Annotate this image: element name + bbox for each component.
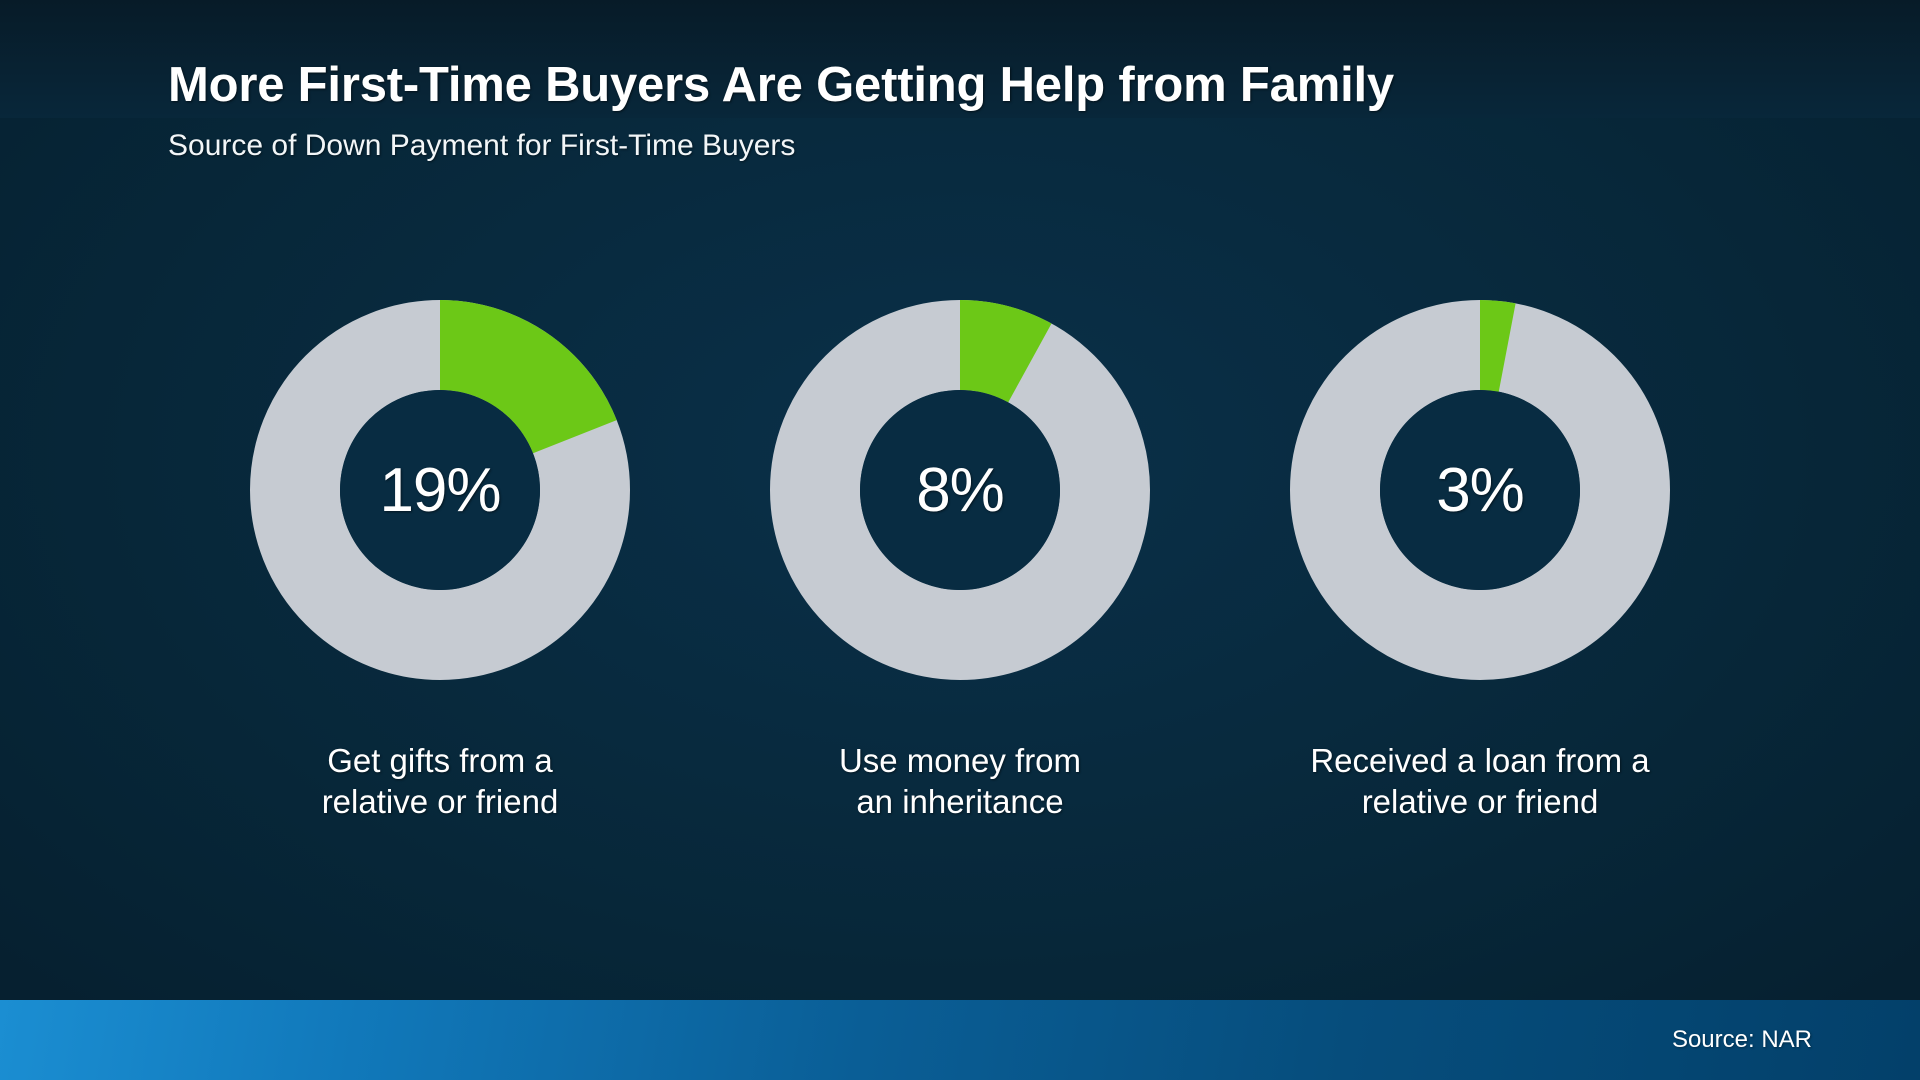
infographic-slide: More First-Time Buyers Are Getting Help … bbox=[0, 0, 1920, 1080]
donut-chart-group: 19% Get gifts from a relative or friend … bbox=[0, 300, 1920, 823]
donut-graphic: 19% bbox=[250, 300, 630, 680]
donut-category-line-1: Received a loan from a bbox=[1310, 740, 1649, 781]
donut-category-line-2: relative or friend bbox=[1310, 781, 1649, 822]
donut-chart-inheritance: 8% Use money from an inheritance bbox=[700, 300, 1220, 823]
donut-percentage-label-2: 3% bbox=[1290, 300, 1670, 680]
donut-percentage-label-1: 8% bbox=[770, 300, 1150, 680]
donut-category-label-0: Get gifts from a relative or friend bbox=[322, 740, 559, 823]
donut-category-line-1: Use money from bbox=[839, 740, 1081, 781]
donut-graphic: 3% bbox=[1290, 300, 1670, 680]
footer-bar: Source: NAR bbox=[0, 1000, 1920, 1080]
donut-graphic: 8% bbox=[770, 300, 1150, 680]
donut-chart-gifts: 19% Get gifts from a relative or friend bbox=[180, 300, 700, 823]
page-title: More First-Time Buyers Are Getting Help … bbox=[168, 58, 1394, 113]
donut-category-line-2: relative or friend bbox=[322, 781, 559, 822]
donut-category-label-2: Received a loan from a relative or frien… bbox=[1310, 740, 1649, 823]
source-attribution: Source: NAR bbox=[1672, 1026, 1920, 1054]
page-subtitle: Source of Down Payment for First-Time Bu… bbox=[168, 129, 1394, 164]
donut-category-line-1: Get gifts from a bbox=[322, 740, 559, 781]
donut-chart-loan: 3% Received a loan from a relative or fr… bbox=[1220, 300, 1740, 823]
donut-category-line-2: an inheritance bbox=[839, 781, 1081, 822]
donut-percentage-label-0: 19% bbox=[250, 300, 630, 680]
donut-category-label-1: Use money from an inheritance bbox=[839, 740, 1081, 823]
header: More First-Time Buyers Are Getting Help … bbox=[168, 58, 1394, 163]
